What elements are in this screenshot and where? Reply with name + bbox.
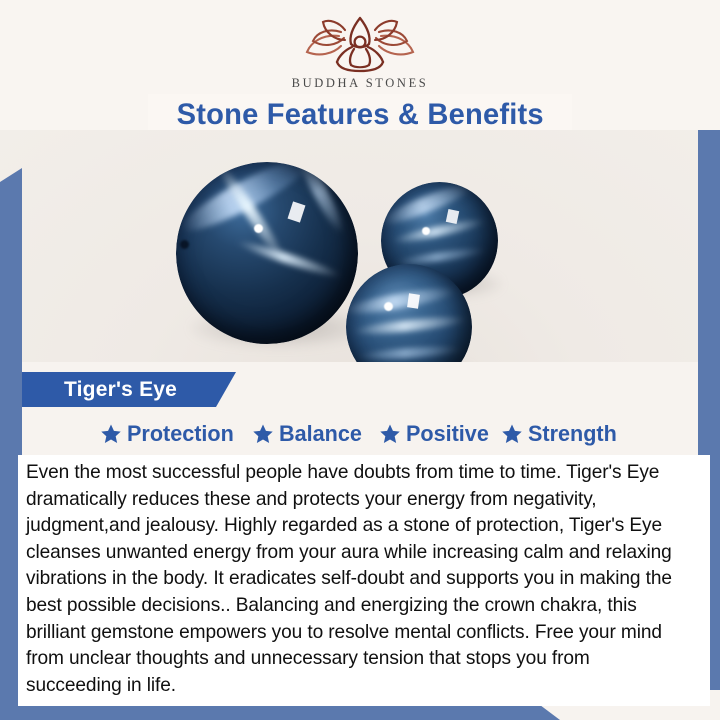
- star-icon: [379, 423, 401, 445]
- brand-name: BUDDHA STONES: [0, 76, 720, 91]
- description-panel: Even the most successful people have dou…: [18, 455, 710, 706]
- benefit-item-positive: Positive: [379, 421, 492, 447]
- star-icon: [501, 423, 523, 445]
- product-photo: [0, 130, 720, 362]
- star-icon: [252, 423, 274, 445]
- sphere-shading: [176, 162, 358, 344]
- gemstone-sphere-large: [176, 162, 358, 344]
- benefit-label: Positive: [406, 421, 489, 447]
- lotus-meditation-icon: [295, 12, 425, 74]
- benefit-label: Balance: [279, 421, 362, 447]
- page-title: Stone Features & Benefits: [176, 98, 543, 132]
- stone-features-poster: BUDDHA STONES Stone Features & Benefits: [0, 0, 720, 720]
- description-text: Even the most successful people have dou…: [26, 459, 690, 698]
- benefit-item-balance: Balance: [252, 421, 365, 447]
- benefits-row: Protection Balance Positive Strength: [22, 416, 698, 452]
- brand-logo: BUDDHA STONES: [0, 12, 720, 91]
- benefit-item-protection: Protection: [100, 421, 238, 447]
- benefit-label: Strength: [528, 421, 617, 447]
- stone-name-banner: Tiger's Eye: [22, 372, 236, 407]
- star-icon: [100, 423, 122, 445]
- benefit-label: Protection: [127, 421, 234, 447]
- benefit-item-strength: Strength: [501, 421, 621, 447]
- stone-name: Tiger's Eye: [64, 378, 177, 402]
